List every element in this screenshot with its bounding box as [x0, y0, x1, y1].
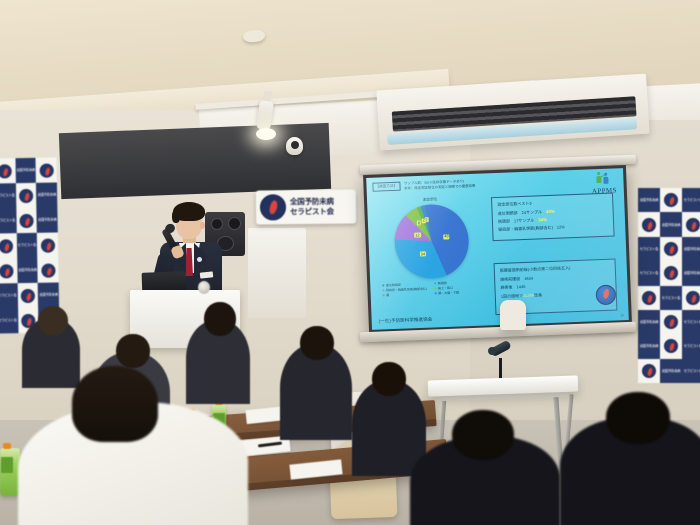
presentation-slide: 【調査方法】 サンプル数：50(※既存収集データあり) 条件：既定測定部位の測定… — [366, 168, 629, 330]
banner-tile-label: 全国予防未病 — [640, 320, 659, 324]
speaker-driver — [228, 217, 241, 230]
attendee-head — [204, 302, 236, 336]
presenter-hair — [173, 202, 205, 221]
association-logo-icon — [19, 213, 33, 227]
association-logo-icon — [21, 288, 35, 302]
pie-slice-label: 48 — [443, 234, 450, 239]
backdrop-banner-right: 全国予防未病 セラピスト会 全国予防未病 セラピスト会 全国予防未病 セラピスト… — [638, 188, 700, 383]
association-logo-icon — [664, 193, 678, 207]
association-logo-icon — [664, 242, 678, 256]
association-logo-icon — [664, 315, 678, 329]
wall-sign-line1: 全国予防未病 — [290, 197, 334, 208]
pie-chart-title: 測定部位 — [379, 196, 481, 205]
pie-chart: 測定部位 483412622 遠位側頭部側頭部頸肩部・胸鎖乳突筋(胸部含む)肩上… — [379, 196, 485, 316]
association-logo-icon — [642, 291, 656, 305]
slide-header-tag: 【調査方法】 — [372, 182, 400, 192]
association-logo-icon — [642, 218, 656, 232]
banner-tile — [16, 208, 37, 233]
banner-tile — [36, 157, 57, 182]
banner-tile: セラピスト会 — [16, 233, 37, 258]
site-samples: 17サンプル — [514, 217, 535, 224]
association-logo-icon — [41, 238, 55, 252]
banner-tile: 全国予防未病 — [638, 334, 660, 358]
slide-header-lines: サンプル数：50(※既存収集データあり) 条件：既定測定部位の測定と施術での硬度… — [404, 179, 476, 192]
attendee-head — [38, 306, 68, 336]
hardness-improvement: 1回の施術で11.5%改善 — [501, 289, 611, 299]
banner-tile: 全国予防未病 — [15, 158, 36, 183]
association-logo-icon — [0, 239, 13, 253]
presenter-ear — [200, 222, 205, 229]
banner-tile-label: 全国予防未病 — [18, 268, 37, 272]
legend-color-swatch — [382, 285, 384, 287]
banner-tile: セラピスト会 — [0, 283, 18, 308]
seminar-room-photo: 全国予防未病 セラピスト会 全国予防未病 セラピスト会 全国予防未病 セラピスト… — [0, 0, 700, 525]
site-label: 遠位側頭部 — [498, 210, 518, 217]
beverage-bottle — [0, 448, 20, 496]
banner-tile-label: セラピスト会 — [18, 243, 37, 247]
banner-tile: 全国予防未病 — [660, 359, 682, 383]
banner-tile — [682, 286, 700, 310]
association-logo-icon — [642, 364, 656, 378]
banner-tile-label: セラピスト会 — [0, 319, 17, 323]
site-label: 頸肩部・胸鎖乳突筋(胸部含む) — [498, 224, 553, 232]
pie-chart-legend: 遠位側頭部側頭部頸肩部・胸鎖乳突筋(胸部含む)肩上・肩口腰膝・大腿・下腿 — [382, 280, 484, 298]
banner-tile-grid: 全国予防未病 セラピスト会 全国予防未病 セラピスト会 全国予防未病 セラピスト… — [638, 188, 700, 383]
pie-slice-label: 34 — [419, 252, 426, 257]
banner-tile-label: 全国予防未病 — [684, 271, 700, 275]
association-logo-icon — [0, 264, 14, 278]
banner-tile-label: 全国予防未病 — [39, 293, 58, 297]
banner-tile — [660, 237, 682, 261]
banner-tile-label: 全国予防未病 — [662, 369, 681, 373]
improvement-prefix: 1回の施術で — [501, 293, 523, 299]
banner-tile — [38, 257, 59, 282]
measurement-sites-box: 測定部位数ベスト3 遠位側頭部 24サンプル 48% 側頭部 17サンプル 34… — [491, 193, 615, 242]
appms-logo: APPMS — [591, 171, 617, 195]
pie-legend-item: 腰 — [383, 291, 433, 298]
legend-color-swatch — [382, 290, 384, 292]
bottle-label — [1, 457, 13, 473]
appms-people-icon — [595, 172, 613, 188]
banner-tile-label: 全国予防未病 — [16, 168, 35, 172]
podium-object — [198, 281, 210, 294]
banner-tile: 全国予防未病 — [682, 261, 700, 285]
slide-header: 【調査方法】 サンプル数：50(※既存収集データあり) 条件：既定測定部位の測定… — [372, 179, 475, 193]
microphone-capsule-icon — [488, 347, 496, 355]
banner-tile-label: セラピスト会 — [662, 296, 681, 300]
banner-tile: 全国予防未病 — [37, 207, 58, 232]
banner-tile-label: 全国予防未病 — [38, 218, 57, 222]
association-logo-icon — [664, 266, 678, 280]
banner-tile: 全国予防未病 — [638, 188, 660, 212]
banner-tile-label: 全国予防未病 — [640, 198, 659, 202]
association-logo-icon — [19, 188, 33, 202]
banner-tile: 全国予防未病 — [17, 258, 38, 283]
site-percent: 12% — [557, 224, 565, 229]
banner-tile — [0, 233, 17, 258]
legend-color-swatch — [434, 288, 436, 290]
association-logo-icon — [39, 163, 53, 177]
banner-tile-label: セラピスト会 — [640, 247, 659, 251]
foreground-attendee-head — [72, 366, 158, 442]
improvement-value: 11.5% — [523, 292, 534, 297]
banner-tile-label: セラピスト会 — [684, 320, 700, 324]
banner-tile: セラピスト会 — [0, 208, 16, 233]
banner-tile: 全国予防未病 — [638, 310, 660, 334]
banner-tile — [660, 334, 682, 358]
pie-slice-label: 6 — [417, 221, 421, 226]
banner-tile — [660, 261, 682, 285]
site-samples: 24サンプル — [522, 209, 543, 216]
banner-tile: セラピスト会 — [638, 237, 660, 261]
banner-tile — [17, 283, 38, 308]
association-logo-icon — [664, 339, 678, 353]
banner-tile-label: セラピスト会 — [684, 198, 700, 202]
pie-slice-label: 12 — [414, 232, 421, 237]
banner-tile-label: 全国予防未病 — [684, 247, 700, 251]
legend-color-swatch — [435, 292, 437, 294]
foreground-attendee-head — [606, 392, 670, 444]
wall-sign-line2: セラピスト会 — [290, 207, 334, 218]
banner-tile — [0, 258, 17, 283]
banner-tile: セラピスト会 — [660, 286, 682, 310]
camera-lens-icon — [291, 141, 299, 149]
foreground-attendee-head — [452, 410, 514, 460]
banner-tile — [16, 183, 37, 208]
banner-tile — [660, 188, 682, 212]
attendee-head — [116, 334, 150, 368]
banner-tile-label: 全国予防未病 — [640, 344, 659, 348]
banner-tile — [0, 158, 16, 183]
attendee-head — [300, 326, 334, 360]
upper-wall-dark-panel — [59, 123, 331, 199]
presenter-lapel-pin — [197, 257, 202, 262]
site-percent: 48% — [546, 208, 555, 213]
banner-tile: セラピスト会 — [682, 334, 700, 358]
banner-tile-label: セラピスト会 — [640, 271, 659, 275]
banner-tile-label: セラピスト会 — [684, 369, 700, 373]
banner-tile: セラピスト会 — [682, 188, 700, 212]
banner-tile — [682, 212, 700, 236]
banner-tile: 全国予防未病 — [36, 182, 57, 207]
banner-tile: 全国予防未病 — [660, 212, 682, 236]
attendee-head — [372, 362, 406, 396]
association-logo-icon — [0, 164, 12, 178]
banner-tile: 全国予防未病 — [38, 282, 59, 307]
association-logo-icon — [41, 263, 55, 277]
banner-tile-label: 全国予防未病 — [662, 223, 681, 227]
slide-page-number: 10 — [620, 313, 623, 317]
banner-tile: セラピスト会 — [682, 310, 700, 334]
bottle-cap — [3, 443, 11, 449]
banner-tile — [37, 232, 58, 257]
wall-sign-text: 全国予防未病 セラピスト会 — [290, 197, 334, 218]
chair — [500, 300, 526, 330]
white-cabinet — [248, 228, 306, 318]
banner-tile: セラピスト会 — [638, 261, 660, 285]
banner-tile — [638, 286, 660, 310]
site-label: 側頭部 — [498, 218, 510, 224]
improvement-suffix: 改善 — [534, 292, 542, 297]
legend-label: 腰 — [386, 293, 389, 298]
projector-screen: 【調査方法】 サンプル数：50(※既存収集データあり) 条件：既定測定部位の測定… — [363, 165, 632, 333]
legend-label: 膝・大腿・下腿 — [438, 290, 459, 296]
banner-tile-label: セラピスト会 — [684, 344, 700, 348]
association-logo-icon — [686, 218, 700, 232]
site-percent: 34% — [538, 217, 547, 222]
pie-chart-graphic: 483412622 — [393, 203, 470, 280]
banner-tile — [638, 359, 660, 383]
banner-tile-label: セラピスト会 — [0, 294, 17, 298]
banner-tile: セラピスト会 — [0, 308, 18, 333]
slide-footer: (一社)予防医科学推進協会 — [379, 317, 433, 325]
spot-light-glow — [256, 128, 276, 140]
banner-tile: 全国予防未病 — [682, 237, 700, 261]
banner-tile-label: セラピスト会 — [0, 219, 15, 223]
banner-tile — [638, 212, 660, 236]
legend-color-swatch — [434, 283, 436, 285]
banner-tile — [660, 310, 682, 334]
banner-tile: セラピスト会 — [0, 183, 16, 208]
association-logo-icon — [686, 291, 700, 305]
association-logo-icon — [260, 194, 286, 220]
banner-tile-label: 全国予防未病 — [37, 193, 56, 197]
wall-sign: 全国予防未病 セラピスト会 — [256, 189, 356, 224]
banner-tile-label: セラピスト会 — [0, 194, 15, 198]
pie-legend-item: 膝・大腿・下腿 — [435, 289, 485, 296]
legend-color-swatch — [383, 294, 385, 296]
banner-tile: セラピスト会 — [682, 359, 700, 383]
pie-slice-label: 2 — [424, 217, 428, 222]
